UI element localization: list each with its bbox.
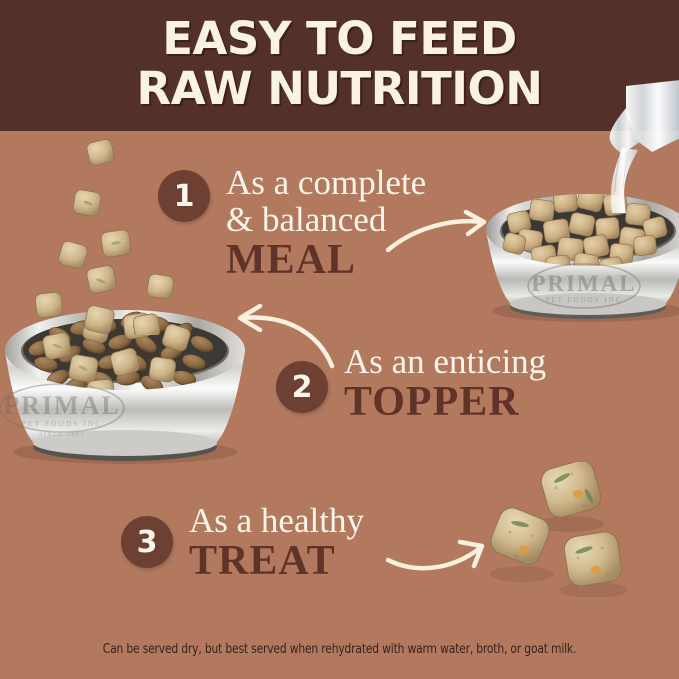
svg-text:SINCE 2001: SINCE 2001 xyxy=(39,432,85,438)
step-2-keyword: TOPPER xyxy=(344,380,546,424)
svg-text:PET FOODS INC: PET FOODS INC xyxy=(22,419,102,428)
pitcher-pouring-water xyxy=(596,78,679,213)
step-1-line-1: As a complete xyxy=(226,164,426,201)
svg-text:PRIMAL: PRIMAL xyxy=(531,271,636,296)
step-3-keyword: TREAT xyxy=(189,539,364,583)
arrow-to-treat-nuggets-icon xyxy=(386,530,496,585)
footer-note: Can be served dry, but best served when … xyxy=(27,642,652,657)
arrow-to-meal-bowl-icon xyxy=(386,210,496,265)
step-3: 3 As a healthy TREAT xyxy=(121,516,364,583)
page-title: EASY TO FEED RAW NUTRITION xyxy=(0,14,679,114)
title-line-2: RAW NUTRITION xyxy=(0,64,679,114)
step-2-line-1: As an enticing xyxy=(344,343,546,380)
step-3-badge: 3 xyxy=(121,516,173,568)
step-2-text: As an enticing TOPPER xyxy=(344,343,546,424)
bowl-right-logo: PRIMAL PET FOODS INC xyxy=(528,264,640,308)
step-3-text: As a healthy TREAT xyxy=(189,502,364,583)
infographic-root: PRIMAL PET FOODS INC xyxy=(0,0,679,679)
step-3-line-1: As a healthy xyxy=(189,502,364,539)
step-1-badge: 1 xyxy=(158,170,210,222)
svg-text:PET FOODS INC: PET FOODS INC xyxy=(546,296,623,304)
svg-text:PRIMAL: PRIMAL xyxy=(3,391,120,420)
title-line-1: EASY TO FEED xyxy=(162,12,516,65)
arrow-to-topper-bowl-icon xyxy=(228,300,338,375)
